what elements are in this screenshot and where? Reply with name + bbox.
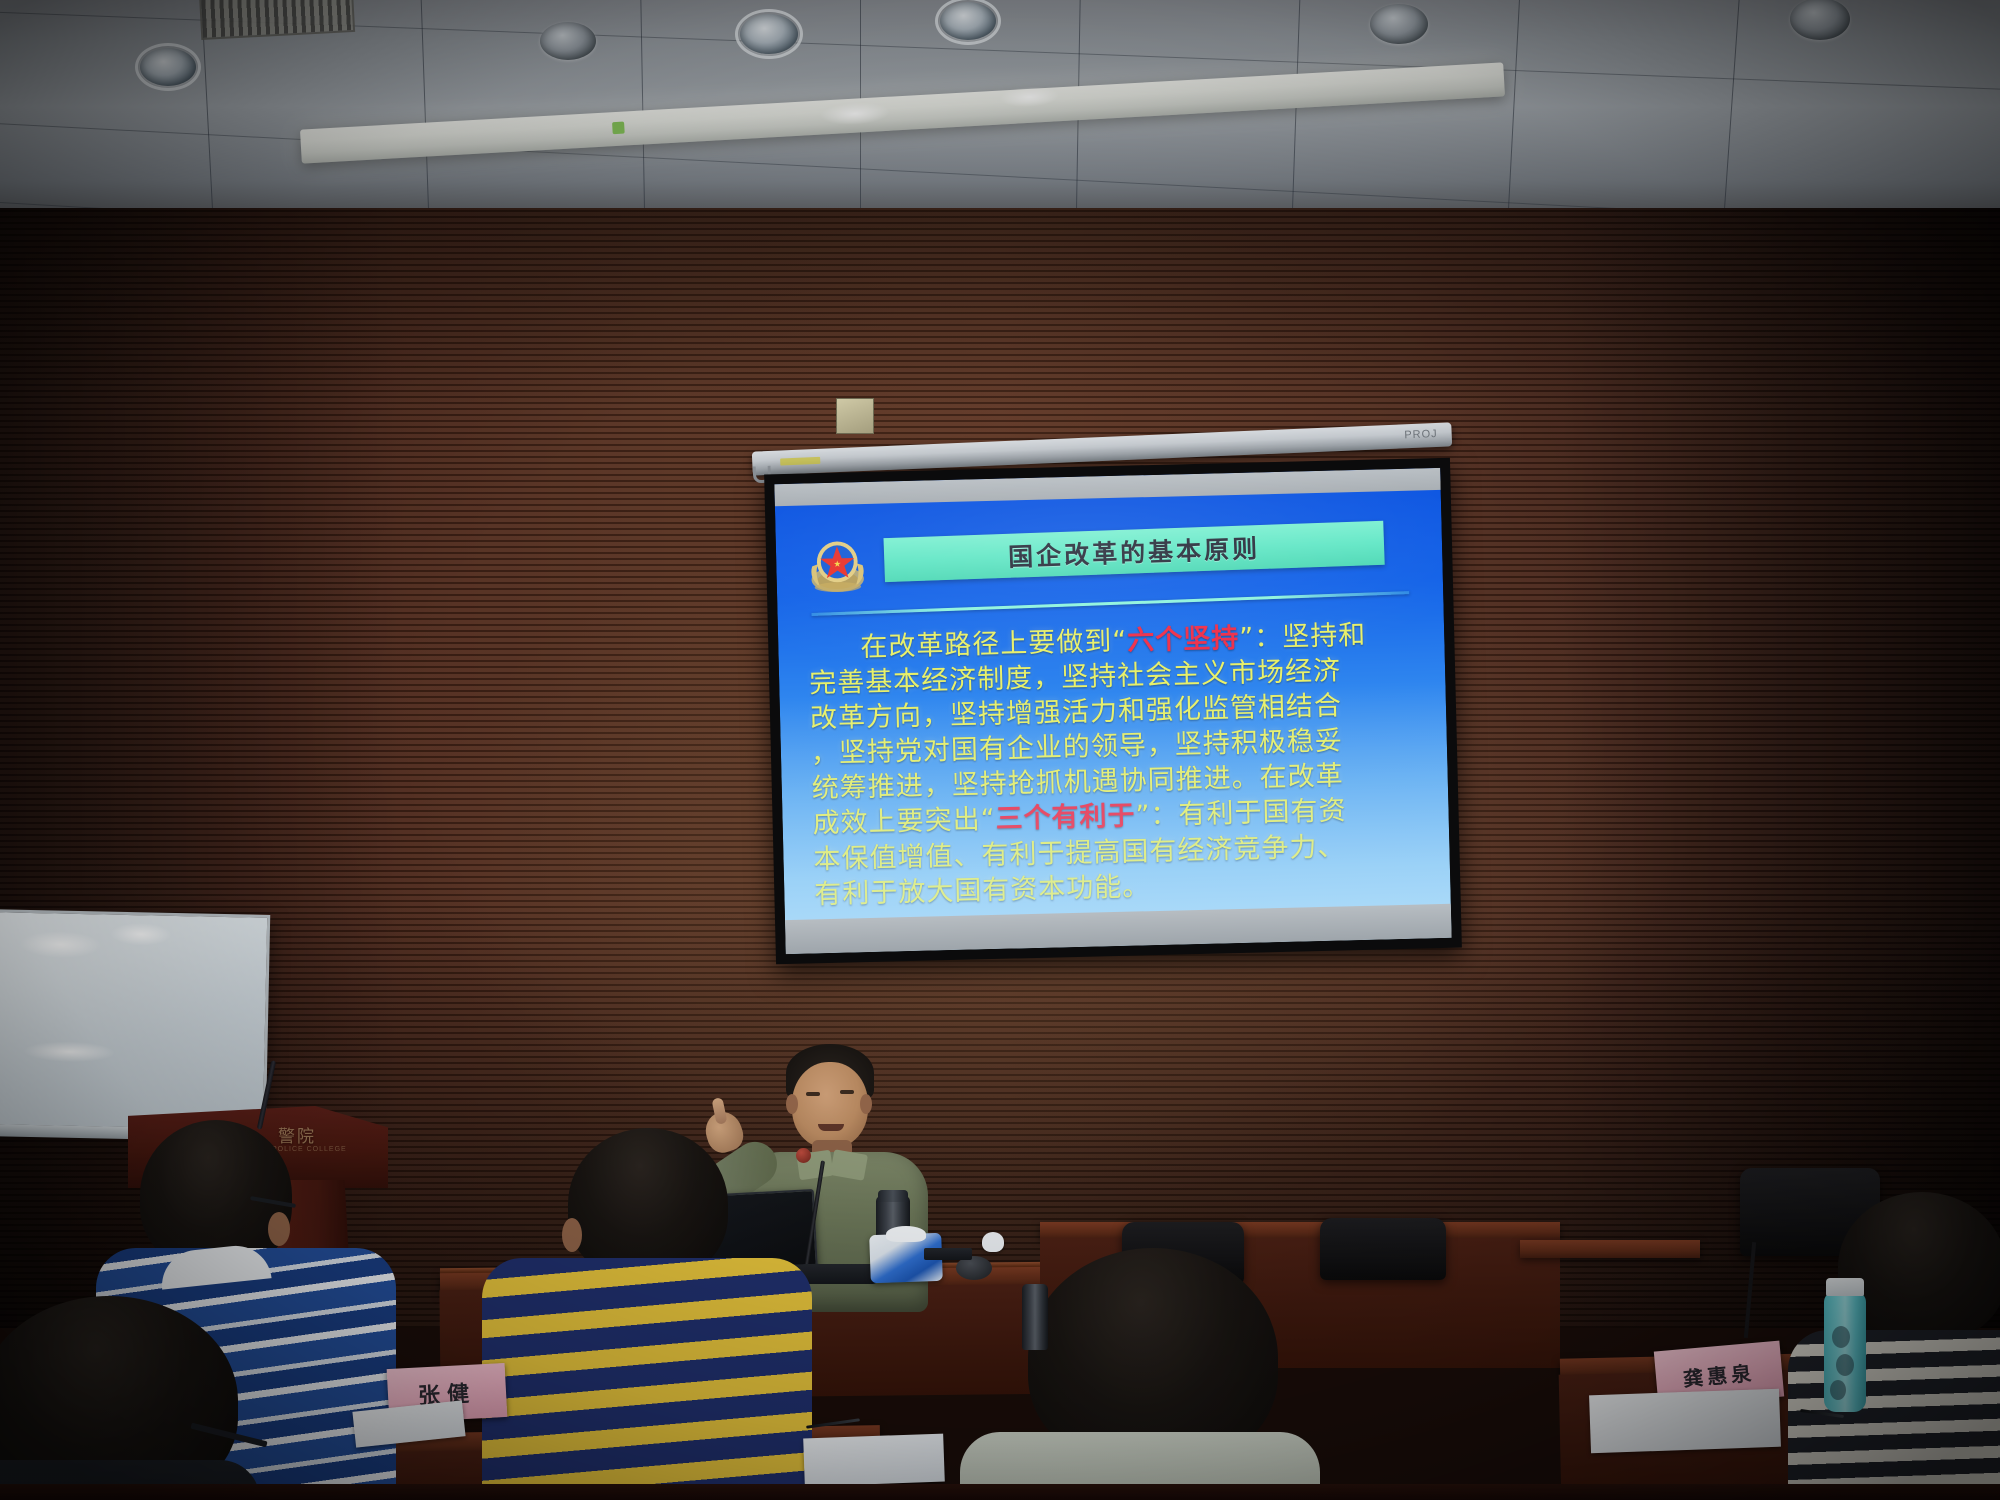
ceiling-vent (199, 0, 355, 40)
water-bottle-teal[interactable] (1824, 1292, 1866, 1412)
water-bottle-cap[interactable] (1826, 1278, 1864, 1296)
tissue-sheet (886, 1226, 926, 1242)
slide-title-bar: 国企改革的基本原则 (883, 521, 1384, 582)
projection-screen-surface[interactable]: ★ 国企改革的基本原则 在改革路径上要做到“六个坚持”：坚持和完善基本经济制度，… (774, 468, 1451, 954)
speaker-ear (860, 1094, 872, 1114)
ceiling-light-panel (300, 62, 1505, 163)
slide-plain-text: 有利于放大国有资本功能。 (814, 871, 1151, 910)
podium-plaque-subtext: POLICE COLLEGE (272, 1146, 347, 1153)
notebook-front-left (803, 1434, 945, 1487)
desk-remote (924, 1248, 972, 1260)
speaker-ear (786, 1094, 798, 1114)
ceiling-downlight (140, 48, 196, 86)
slide-title: 国企改革的基本原则 (1008, 529, 1261, 574)
slide-divider (812, 591, 1410, 616)
slide-emphasis-text: 六个坚持 (1127, 623, 1240, 657)
slide-body-text: 在改革路径上要做到“六个坚持”：坚持和完善基本经济制度，坚持社会主义市场经济改革… (808, 617, 1425, 913)
right-desk-top-far (1520, 1240, 1700, 1258)
wall-access-plate (836, 398, 874, 434)
slide-plain-text: 成效上要突出“ (812, 804, 996, 839)
slide-plain-text: ”：坚持和 (1239, 620, 1367, 654)
whiteboard[interactable] (0, 909, 270, 1133)
slide-emphasis-text: 三个有利于 (995, 801, 1136, 835)
speaker-face (792, 1062, 868, 1148)
chair[interactable] (1320, 1218, 1446, 1280)
screen-brand-label: PROJ (1404, 428, 1438, 441)
speaker-eye (806, 1092, 820, 1096)
svg-text:★: ★ (833, 560, 841, 570)
attendee-center-ear (562, 1218, 582, 1252)
podium-plaque-text: 警院 (278, 1122, 316, 1147)
microphone-head (796, 1148, 811, 1163)
attendee-right-torso (1788, 1330, 2000, 1500)
presentation-slide: ★ 国企改革的基本原则 在改革路径上要做到“六个坚持”：坚持和完善基本经济制度，… (774, 468, 1451, 954)
attendee-center-torso (482, 1258, 812, 1500)
pla-star-emblem: ★ (806, 536, 869, 599)
speaker-collar (830, 1149, 868, 1181)
speaker-eye (840, 1090, 854, 1094)
projection-screen-frame: ★ 国企改革的基本原则 在改革路径上要做到“六个坚持”：坚持和完善基本经济制度，… (764, 458, 1462, 965)
attendee-front-left-ear (268, 1212, 290, 1246)
slide-plain-text: 在改革路径上要做到“ (860, 626, 1128, 664)
ceiling-downlight (1790, 0, 1850, 40)
paper-right (1589, 1389, 1781, 1454)
thermos-cap (878, 1190, 908, 1202)
ceiling (0, 0, 2000, 232)
slide-plain-text: ”：有利于国有资 (1135, 796, 1347, 832)
cup-rear (1022, 1284, 1048, 1350)
ceiling-downlight (940, 2, 996, 40)
slide-top-edge (774, 468, 1440, 506)
floor-shadow (0, 1484, 2000, 1500)
small-white-object (982, 1232, 1004, 1252)
light-indicator (612, 122, 625, 135)
ceiling-downlight (540, 22, 596, 60)
speaker-mouth (818, 1124, 844, 1131)
microphone-base (800, 1264, 878, 1284)
ceiling-downlight (740, 14, 798, 54)
warning-sticker (780, 457, 820, 466)
ceiling-downlight (1370, 4, 1428, 44)
lecture-hall-scene: PROJ ★ (0, 0, 2000, 1500)
slide-bottom-edge (785, 904, 1452, 954)
